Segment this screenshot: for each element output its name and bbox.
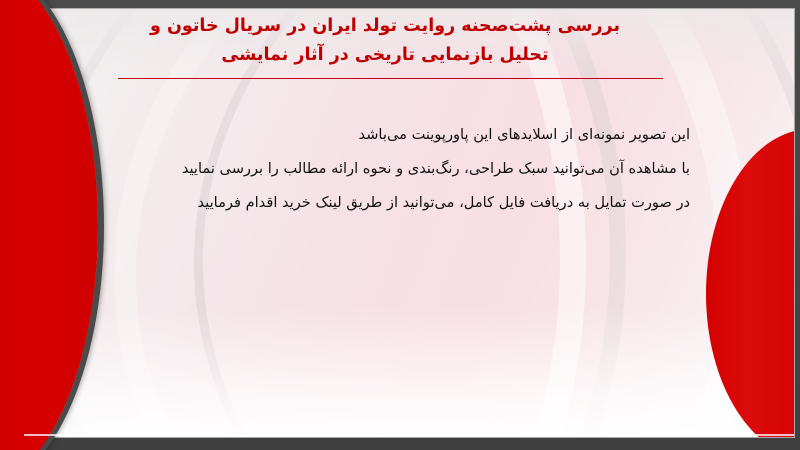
- background-arc-pattern: [24, 9, 794, 437]
- title-line-2: تحلیل بازنمایی تاریخی در آثار نمایشی: [60, 41, 710, 70]
- slide-title: بررسی پشت‌صحنه روایت تولد ایران در سریال…: [60, 12, 710, 70]
- body-line-1: این تصویر نمونه‌ای از اسلایدهای این پاور…: [130, 118, 690, 152]
- body-line-2: با مشاهده آن می‌توانید سبک طراحی، رنگ‌بن…: [130, 152, 690, 186]
- presentation-slide: بررسی پشت‌صحنه روایت تولد ایران در سریال…: [0, 0, 800, 450]
- arc-band-10: [194, 9, 794, 437]
- panel-bottom-hairline: [24, 434, 794, 436]
- title-underline-rule: [118, 78, 663, 79]
- slide-content-panel: [24, 9, 794, 437]
- title-line-1: بررسی پشت‌صحنه روایت تولد ایران در سریال…: [60, 12, 710, 41]
- slide-body-text: این تصویر نمونه‌ای از اسلایدهای این پاور…: [130, 118, 690, 220]
- body-line-3: در صورت تمایل به دریافت فایل کامل، می‌تو…: [130, 186, 690, 220]
